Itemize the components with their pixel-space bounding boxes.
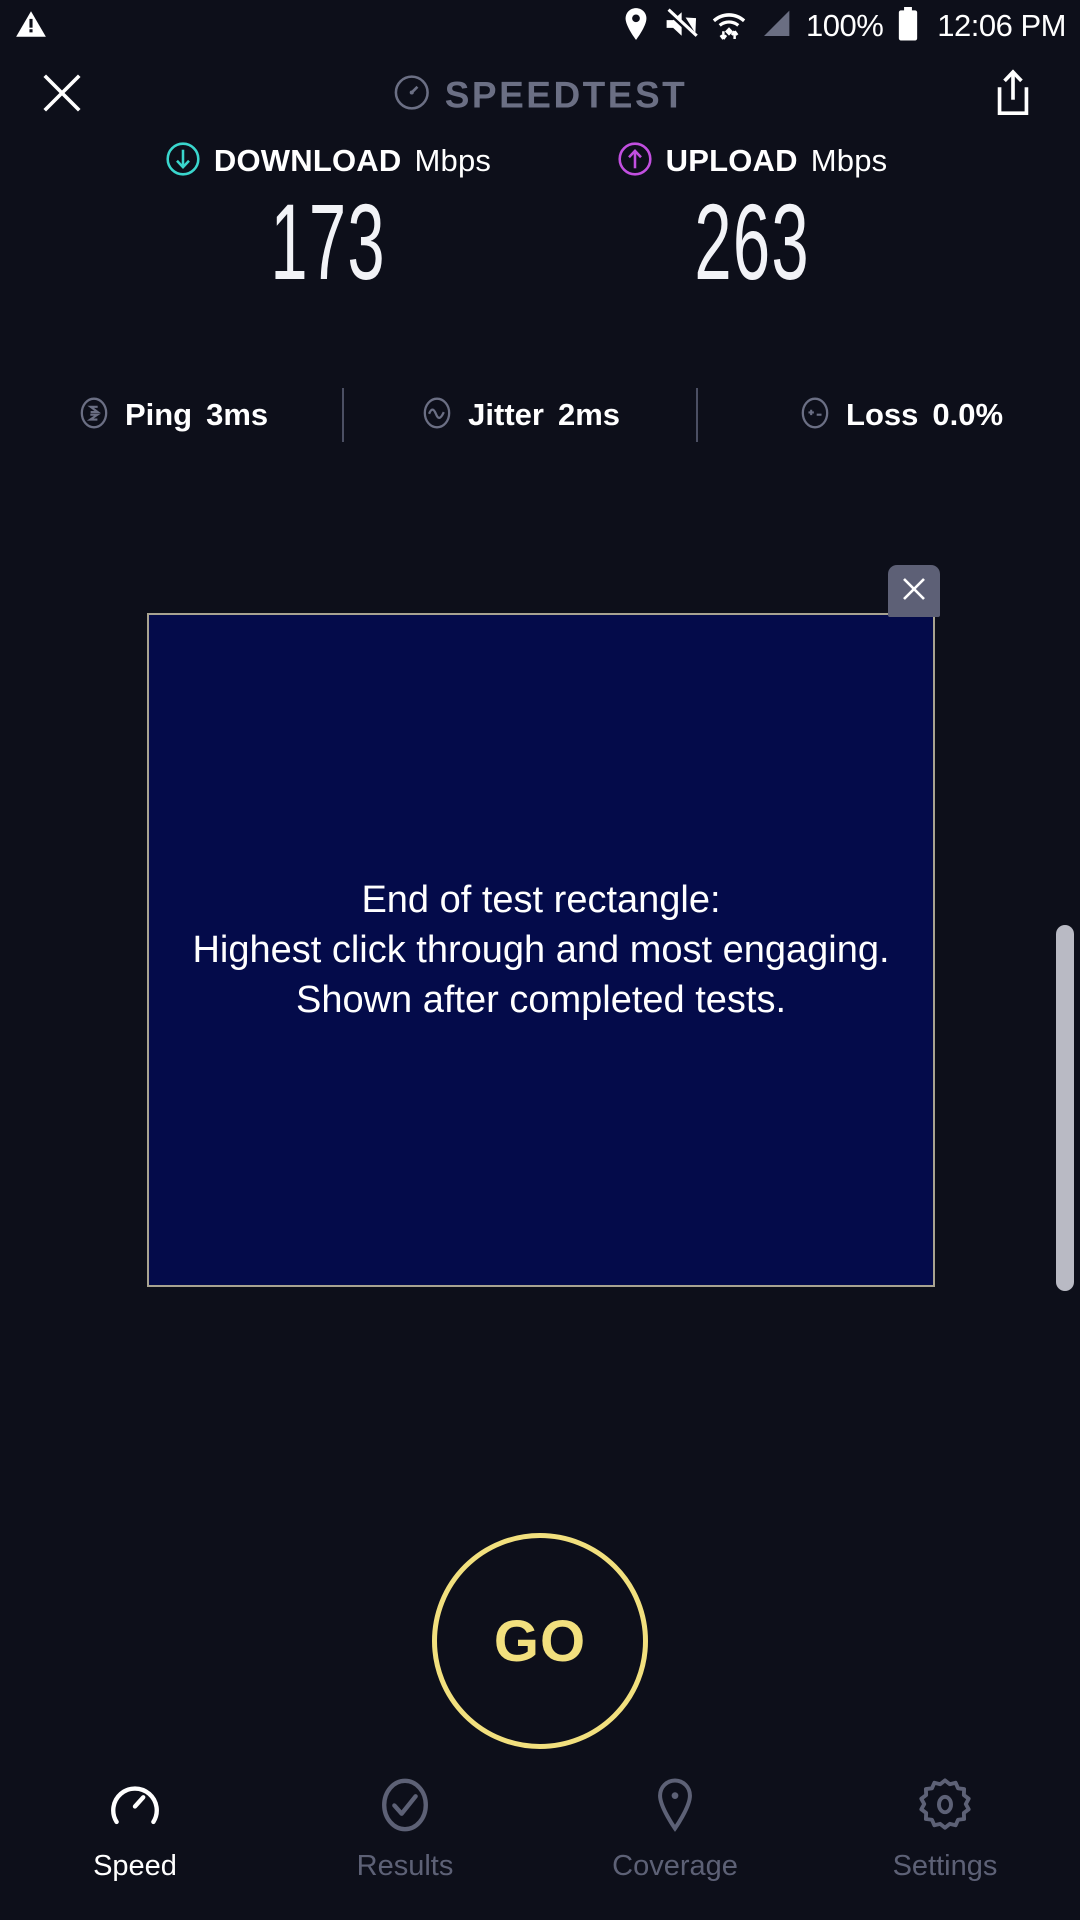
- close-icon: [39, 70, 85, 121]
- download-header: DOWNLOAD Mbps: [165, 140, 491, 182]
- speedtest-app-screen: 100% 12:06 PM: [0, 0, 1080, 1920]
- nav-label-speed: Speed: [93, 1850, 177, 1883]
- download-upload-row: DOWNLOAD Mbps 173 UPLOAD Mbps: [0, 140, 1080, 296]
- jitter-value: 2ms: [558, 397, 620, 433]
- nav-label-coverage: Coverage: [612, 1850, 738, 1883]
- volume-muted-icon: [664, 8, 698, 45]
- ping-jitter-loss-row: Ping 3ms Jitter 2ms: [0, 388, 1080, 442]
- download-value: 173: [270, 188, 385, 296]
- status-bar-left: [14, 7, 48, 46]
- upload-value: 263: [694, 188, 809, 296]
- share-button[interactable]: [986, 68, 1040, 122]
- results-summary: DOWNLOAD Mbps 173 UPLOAD Mbps: [0, 140, 1080, 296]
- upload-label: UPLOAD: [666, 143, 798, 179]
- map-pin-icon: [646, 1774, 704, 1836]
- advertisement-banner[interactable]: End of test rectangle: Highest click thr…: [147, 613, 935, 1287]
- upload-metric: UPLOAD Mbps 263: [587, 140, 917, 296]
- wifi-transfer-icon: [712, 7, 746, 46]
- close-icon: [899, 574, 929, 609]
- nav-item-coverage[interactable]: Coverage: [540, 1774, 810, 1920]
- download-unit: Mbps: [414, 143, 491, 179]
- go-button[interactable]: GO: [432, 1533, 648, 1749]
- ad-text: End of test rectangle: Highest click thr…: [180, 875, 901, 1025]
- upload-header: UPLOAD Mbps: [617, 140, 888, 182]
- warning-triangle-icon: [14, 7, 48, 46]
- location-pin-icon: [622, 7, 650, 46]
- nav-item-speed[interactable]: Speed: [0, 1774, 270, 1920]
- nav-label-results: Results: [357, 1850, 454, 1883]
- speedometer-icon: [106, 1774, 164, 1836]
- divider: [696, 388, 698, 442]
- ad-close-button[interactable]: [888, 565, 940, 617]
- page-title: SPEEDTEST: [445, 74, 688, 116]
- status-clock: 12:06 PM: [937, 8, 1066, 44]
- ping-metric: Ping 3ms: [47, 396, 298, 435]
- speedometer-icon: [393, 74, 431, 117]
- jitter-icon: [420, 396, 454, 435]
- loss-value: 0.0%: [932, 397, 1003, 433]
- close-button[interactable]: [36, 69, 88, 121]
- jitter-label: Jitter: [468, 397, 544, 433]
- go-button-label: GO: [494, 1608, 586, 1675]
- jitter-metric: Jitter 2ms: [390, 396, 650, 435]
- loss-label: Loss: [846, 397, 918, 433]
- battery-percent-label: 100%: [806, 8, 883, 44]
- share-icon: [991, 69, 1035, 122]
- bottom-navigation: Speed Results Coverage: [0, 1760, 1080, 1920]
- nav-item-results[interactable]: Results: [270, 1774, 540, 1920]
- cellular-signal-icon: [760, 8, 792, 45]
- brand: SPEEDTEST: [393, 74, 688, 117]
- scrollbar-thumb[interactable]: [1056, 925, 1074, 1291]
- check-circle-icon: [376, 1774, 434, 1836]
- ping-icon: [77, 396, 111, 435]
- nav-label-settings: Settings: [893, 1850, 998, 1883]
- status-bar: 100% 12:06 PM: [0, 0, 1080, 52]
- download-label: DOWNLOAD: [214, 143, 402, 179]
- ping-label: Ping: [125, 397, 192, 433]
- loss-icon: [798, 396, 832, 435]
- status-bar-right: 100% 12:06 PM: [622, 7, 1066, 46]
- nav-item-settings[interactable]: Settings: [810, 1774, 1080, 1920]
- loss-metric: Loss 0.0%: [768, 396, 1033, 435]
- arrow-up-circle-icon: [617, 141, 653, 182]
- download-metric: DOWNLOAD Mbps 173: [163, 140, 493, 296]
- ping-value: 3ms: [206, 397, 268, 433]
- divider: [342, 388, 344, 442]
- arrow-down-circle-icon: [165, 141, 201, 182]
- app-header: SPEEDTEST: [0, 52, 1080, 138]
- battery-full-icon: [897, 7, 919, 46]
- upload-unit: Mbps: [811, 143, 888, 179]
- gear-icon: [916, 1774, 974, 1836]
